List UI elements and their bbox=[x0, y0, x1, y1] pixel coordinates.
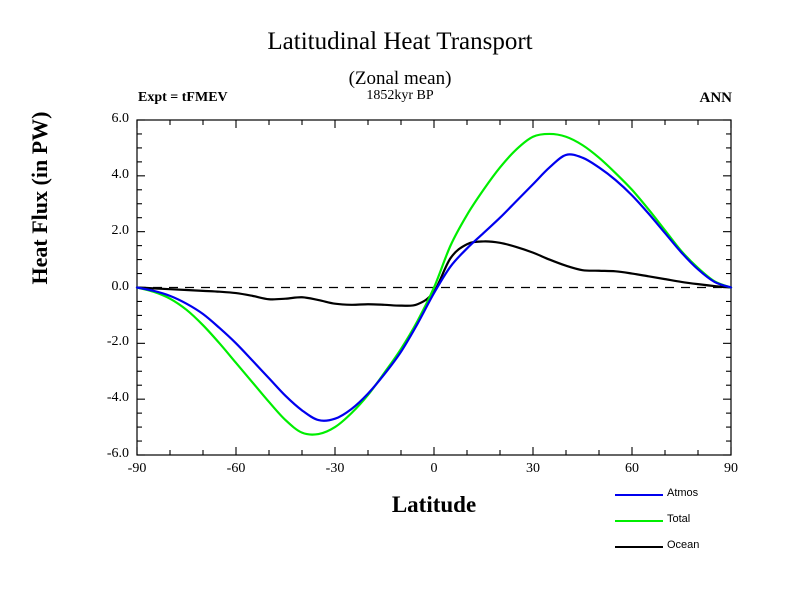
chart-figure: Latitudinal Heat Transport (Zonal mean) … bbox=[0, 0, 800, 600]
series-line-total bbox=[137, 134, 731, 435]
x-tick-label: 0 bbox=[404, 461, 464, 477]
legend-swatch-total bbox=[615, 520, 663, 522]
y-tick-label: 2.0 bbox=[83, 224, 129, 238]
series-line-ocean bbox=[137, 241, 731, 305]
y-tick-label: 6.0 bbox=[83, 112, 129, 126]
legend-item-atmos[interactable]: Atmos bbox=[615, 487, 790, 513]
x-tick-label: -90 bbox=[107, 461, 167, 477]
x-tick-label: -60 bbox=[206, 461, 266, 477]
x-tick-label: 90 bbox=[701, 461, 761, 477]
legend-swatch-ocean bbox=[615, 546, 663, 548]
x-tick-label: -30 bbox=[305, 461, 365, 477]
y-tick-label: -6.0 bbox=[83, 447, 129, 461]
y-tick-label: -4.0 bbox=[83, 391, 129, 405]
x-tick-label: 60 bbox=[602, 461, 662, 477]
legend-item-ocean[interactable]: Ocean bbox=[615, 539, 790, 565]
y-tick-label: 4.0 bbox=[83, 168, 129, 182]
legend-label: Total bbox=[667, 513, 690, 525]
legend-item-total[interactable]: Total bbox=[615, 513, 790, 539]
legend-label: Atmos bbox=[667, 487, 698, 499]
y-tick-label: -2.0 bbox=[83, 335, 129, 349]
legend-label: Ocean bbox=[667, 539, 699, 551]
x-tick-label: 30 bbox=[503, 461, 563, 477]
y-tick-label: 0.0 bbox=[83, 280, 129, 294]
chart-legend: AtmosTotalOcean bbox=[615, 487, 790, 565]
legend-swatch-atmos bbox=[615, 494, 663, 496]
